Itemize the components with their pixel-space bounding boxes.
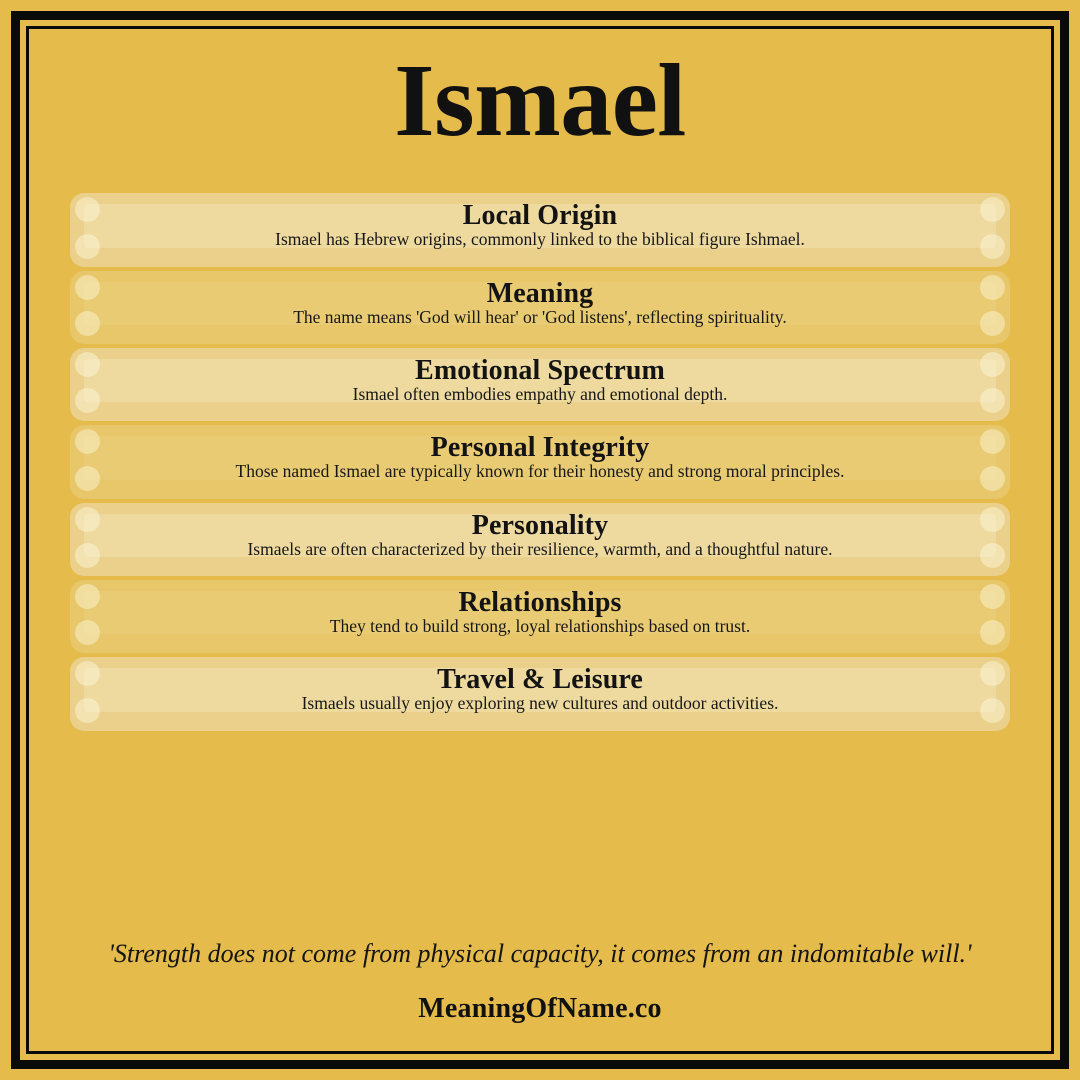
attribute-card-travel-and-leisure: Travel & Leisure Ismaels usually enjoy e… <box>70 657 1010 730</box>
card-heading: Relationships <box>100 589 980 617</box>
card-heading: Personal Integrity <box>100 434 980 462</box>
page-title: Ismael <box>40 47 1040 155</box>
card-body: Relationships They tend to build strong,… <box>70 589 1010 637</box>
attribute-card-local-origin: Local Origin Ismael has Hebrew origins, … <box>70 193 1010 266</box>
attribute-card-personality: Personality Ismaels are often characteri… <box>70 503 1010 576</box>
attribute-card-personal-integrity: Personal Integrity Those named Ismael ar… <box>70 425 1010 498</box>
attribute-card-list: Local Origin Ismael has Hebrew origins, … <box>40 193 1040 730</box>
card-heading: Meaning <box>100 280 980 308</box>
attribute-card-relationships: Relationships They tend to build strong,… <box>70 580 1010 653</box>
card-body: Emotional Spectrum Ismael often embodies… <box>70 357 1010 405</box>
card-heading: Emotional Spectrum <box>100 357 980 385</box>
card-description: Ismael often embodies empathy and emotio… <box>100 384 980 405</box>
card-heading: Personality <box>100 512 980 540</box>
card-body: Personality Ismaels are often characteri… <box>70 512 1010 560</box>
poster-footer: 'Strength does not come from physical ca… <box>40 940 1040 1047</box>
brand-name: MeaningOfName.co <box>40 993 1040 1025</box>
name-meaning-poster: Ismael Local Origin Ismael has Hebrew or… <box>0 0 1080 1080</box>
card-body: Meaning The name means 'God will hear' o… <box>70 280 1010 328</box>
card-description: The name means 'God will hear' or 'God l… <box>100 307 980 328</box>
attribute-card-meaning: Meaning The name means 'God will hear' o… <box>70 271 1010 344</box>
card-description: Ismaels usually enjoy exploring new cult… <box>100 693 980 714</box>
footer-quote: 'Strength does not come from physical ca… <box>40 940 1040 969</box>
card-body: Personal Integrity Those named Ismael ar… <box>70 434 1010 482</box>
card-description: Ismael has Hebrew origins, commonly link… <box>100 229 980 250</box>
poster-content: Ismael Local Origin Ismael has Hebrew or… <box>40 33 1040 1047</box>
card-body: Travel & Leisure Ismaels usually enjoy e… <box>70 666 1010 714</box>
card-description: They tend to build strong, loyal relatio… <box>100 616 980 637</box>
card-description: Those named Ismael are typically known f… <box>100 461 980 482</box>
card-heading: Travel & Leisure <box>100 666 980 694</box>
attribute-card-emotional-spectrum: Emotional Spectrum Ismael often embodies… <box>70 348 1010 421</box>
card-body: Local Origin Ismael has Hebrew origins, … <box>70 202 1010 250</box>
card-description: Ismaels are often characterized by their… <box>100 539 980 560</box>
card-heading: Local Origin <box>100 202 980 230</box>
